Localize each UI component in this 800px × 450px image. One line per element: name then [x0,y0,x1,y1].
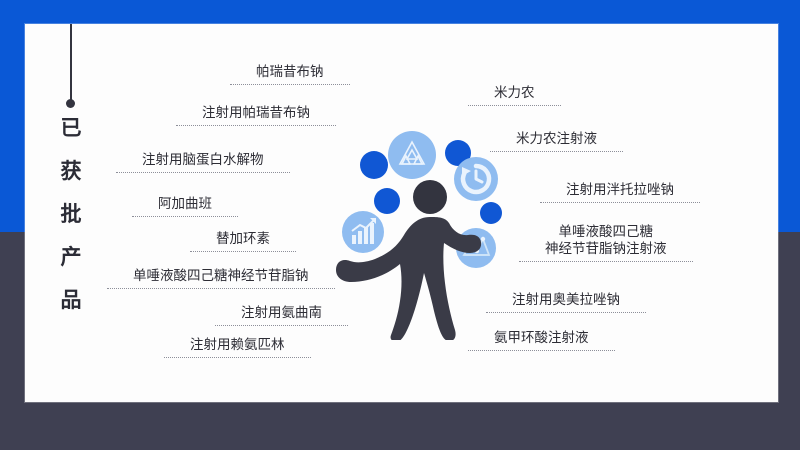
slide-root: 已 获 批 产 品 帕瑞昔布钠 注射用帕瑞昔布钠 注射用脑蛋白水解物 阿加曲班 … [0,0,800,450]
title-char-5: 品 [55,290,87,311]
title-dot [66,99,75,108]
label-underline [490,151,623,152]
product-name: 注射用脑蛋白水解物 [142,152,264,167]
product-name: 阿加曲班 [158,196,212,211]
label-underline [176,125,336,126]
product-name: 单唾液酸四己糖神经节苷脂钠 [133,268,309,283]
product-name: 注射用泮托拉唑钠 [566,182,674,197]
product-name: 替加环素 [216,231,270,246]
label-underline [132,216,238,217]
central-illustration [330,125,530,340]
product-name: 米力农注射液 [516,131,597,146]
product-label-left-1: 帕瑞昔布钠 [256,64,324,81]
product-name-line2: 神经节苷脂钠注射液 [545,241,667,256]
product-name: 注射用奥美拉唑钠 [512,292,620,307]
label-underline [519,261,693,262]
product-name: 单唾液酸四己糖 [559,224,654,239]
page-title: 已 获 批 产 品 [55,118,87,333]
product-label-right-2: 米力农注射液 [516,131,597,148]
label-underline [468,105,561,106]
product-name: 米力农 [494,85,535,100]
product-label-left-7: 注射用氨曲南 [241,305,322,322]
product-label-left-4: 阿加曲班 [158,196,212,213]
product-label-left-8: 注射用赖氨匹林 [190,337,285,354]
label-underline [486,312,646,313]
label-underline [215,325,348,326]
label-underline [468,350,615,351]
label-underline [164,357,311,358]
product-name: 注射用帕瑞昔布钠 [202,105,310,120]
title-char-1: 已 [55,118,87,139]
title-char-4: 产 [55,247,87,268]
product-label-left-2: 注射用帕瑞昔布钠 [202,105,310,122]
product-label-right-1: 米力农 [494,85,535,102]
label-underline [540,202,700,203]
product-name: 帕瑞昔布钠 [256,64,324,79]
product-label-left-6: 单唾液酸四己糖神经节苷脂钠 [133,268,309,285]
product-name: 注射用赖氨匹林 [190,337,285,352]
title-char-2: 获 [55,161,87,182]
label-underline [230,84,350,85]
label-underline [116,172,290,173]
title-rule [70,24,72,102]
product-label-right-4: 单唾液酸四己糖 神经节苷脂钠注射液 [545,224,667,258]
product-name: 注射用氨曲南 [241,305,322,320]
label-underline [190,251,296,252]
product-label-left-3: 注射用脑蛋白水解物 [142,152,264,169]
label-underline [107,288,335,289]
title-char-3: 批 [55,204,87,225]
product-name: 氨甲环酸注射液 [494,330,589,345]
product-label-left-5: 替加环素 [216,231,270,248]
product-label-right-3: 注射用泮托拉唑钠 [566,182,674,199]
juggling-person-figure [330,125,530,340]
product-label-right-5: 注射用奥美拉唑钠 [512,292,620,309]
product-label-right-6: 氨甲环酸注射液 [494,330,589,347]
